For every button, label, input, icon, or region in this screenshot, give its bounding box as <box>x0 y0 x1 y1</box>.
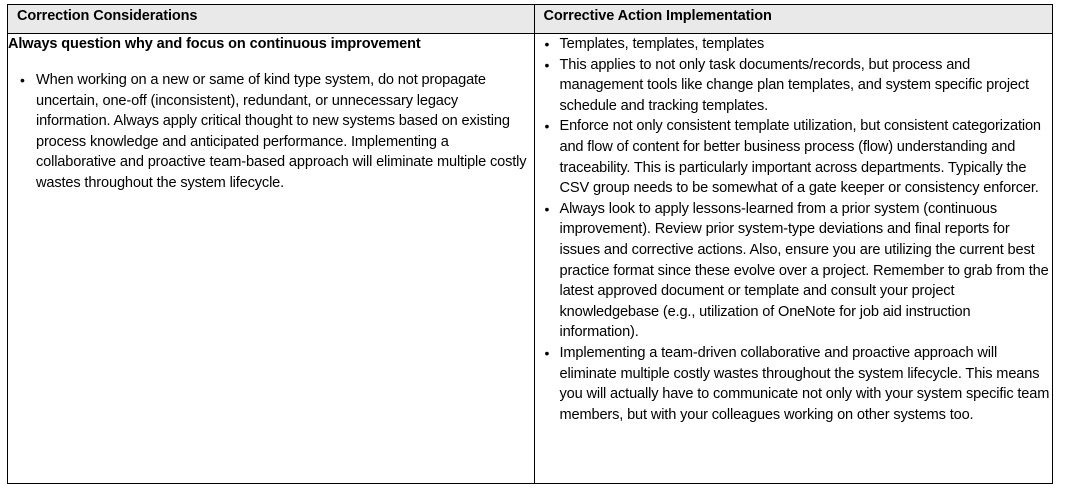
column-header-correction-considerations: Correction Considerations <box>8 5 535 34</box>
correction-considerations-table: Correction Considerations Corrective Act… <box>7 4 1053 484</box>
table-body-row: Always question why and focus on continu… <box>8 34 1053 484</box>
cell-corrective-action-implementation: Templates, templates, templates This app… <box>534 34 1053 484</box>
cell-correction-considerations: Always question why and focus on continu… <box>8 34 535 484</box>
list-item: Enforce not only consistent template uti… <box>535 116 1053 198</box>
list-item: This applies to not only task documents/… <box>535 55 1053 117</box>
right-bullet-text-3: Enforce not only consistent template uti… <box>560 116 1053 198</box>
left-bullet-text-1: When working on a new or same of kind ty… <box>36 70 528 194</box>
table-header-row: Correction Considerations Corrective Act… <box>8 5 1053 34</box>
left-bullet-list: When working on a new or same of kind ty… <box>8 70 534 194</box>
right-bullet-text-1: Templates, templates, templates <box>560 34 1053 55</box>
document-page: Correction Considerations Corrective Act… <box>0 0 1066 494</box>
right-bullet-text-2: This applies to not only task documents/… <box>560 55 1053 117</box>
list-item: Implementing a team-driven collaborative… <box>535 343 1053 425</box>
right-bullet-list: Templates, templates, templates This app… <box>535 34 1053 425</box>
list-item: Always look to apply lessons-learned fro… <box>535 199 1053 343</box>
list-item: Templates, templates, templates <box>535 34 1053 55</box>
column-header-corrective-action-implementation: Corrective Action Implementation <box>534 5 1053 34</box>
list-item: When working on a new or same of kind ty… <box>8 70 534 194</box>
right-bullet-text-5: Implementing a team-driven collaborative… <box>560 343 1053 425</box>
right-bullet-text-4: Always look to apply lessons-learned fro… <box>560 199 1053 343</box>
left-lead-line: Always question why and focus on continu… <box>8 34 534 54</box>
